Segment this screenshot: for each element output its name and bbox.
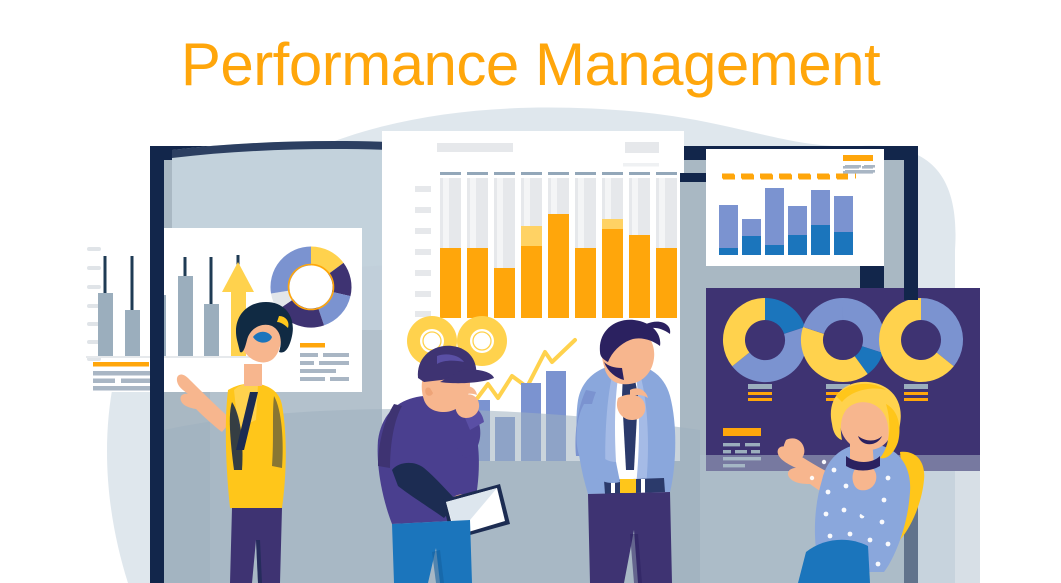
dark-card-region[interactable]: [706, 288, 980, 471]
illustration-canvas: Performance Management: [0, 0, 1061, 583]
left-chart-region[interactable]: [80, 228, 362, 392]
top-right-card-region[interactable]: [706, 149, 884, 266]
center-board-region[interactable]: [382, 131, 684, 461]
